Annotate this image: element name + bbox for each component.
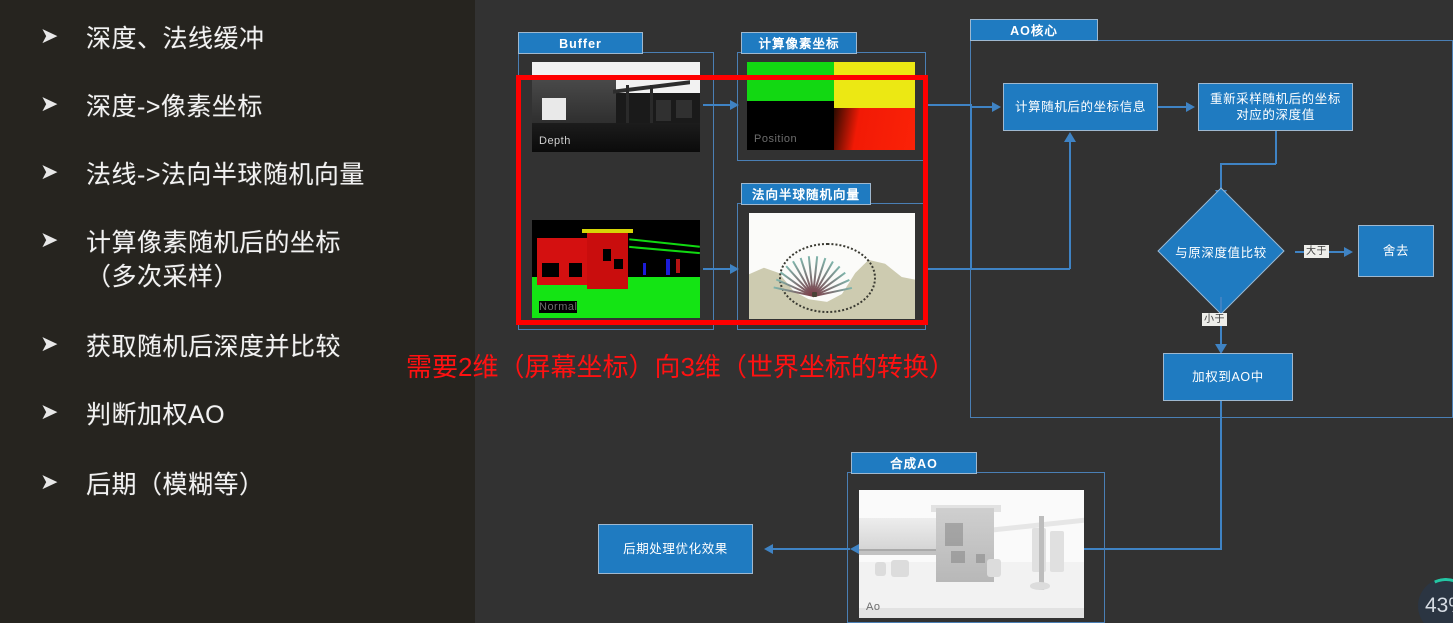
diagram-panel: Buffer Depth xyxy=(475,0,1453,623)
position-image-label: Position xyxy=(754,133,797,145)
arrow-depth-to-position xyxy=(730,100,739,110)
arrow-compare-to-discard xyxy=(1344,247,1353,257)
bullet-arrow-icon: ➤ xyxy=(40,398,86,428)
list-item: ➤ 深度->像素坐标 xyxy=(40,90,263,124)
node-compare-depth-label: 与原深度值比较 xyxy=(1175,242,1267,261)
node-resample-depth-label: 重新采样随机后的坐标 对应的深度值 xyxy=(1204,91,1347,123)
list-item: ➤ 获取随机后深度并比较 xyxy=(40,330,341,364)
bullet-list-panel: ➤ 深度、法线缓冲 ➤ 深度->像素坐标 ➤ 法线->法向半球随机向量 ➤ 计算… xyxy=(0,0,475,623)
bullet-text: 深度->像素坐标 xyxy=(86,90,263,124)
ao-result-image: Ao xyxy=(859,490,1084,618)
group-hemisphere-title: 法向半球随机向量 xyxy=(741,183,871,205)
node-discard[interactable]: 舍去 xyxy=(1358,225,1434,277)
arrow-loop-into-calc xyxy=(1064,132,1076,142)
arrow-normal-to-hemisphere xyxy=(730,264,739,274)
group-pixel-coord-title: 计算像素坐标 xyxy=(741,32,857,54)
list-item: ➤ 深度、法线缓冲 xyxy=(40,22,265,56)
node-discard-label: 舍去 xyxy=(1377,243,1415,259)
list-item: ➤ 计算像素随机后的坐标 （多次采样） xyxy=(40,226,341,294)
edge-label-greater: 大于 xyxy=(1304,245,1329,258)
normal-image-label: Normal xyxy=(539,301,577,313)
edge-normal-to-hemisphere xyxy=(703,268,731,270)
arrow-into-calc-coord xyxy=(992,102,1001,112)
bullet-text: 深度、法线缓冲 xyxy=(86,22,265,56)
slide-canvas: ➤ 深度、法线缓冲 ➤ 深度->像素坐标 ➤ 法线->法向半球随机向量 ➤ 计算… xyxy=(0,0,1453,623)
edge-ao-to-post xyxy=(772,548,850,550)
bullet-arrow-icon: ➤ xyxy=(40,330,86,360)
node-calc-coord[interactable]: 计算随机后的坐标信息 xyxy=(1003,83,1158,131)
edge-core-rail-to-calc xyxy=(970,106,992,108)
bullet-text: 判断加权AO xyxy=(86,398,225,432)
depth-image-label: Depth xyxy=(539,135,571,147)
group-composite-ao-title: 合成AO xyxy=(851,452,977,474)
bullet-text: 计算像素随机后的坐标 （多次采样） xyxy=(86,226,341,294)
node-weight-ao-label: 加权到AO中 xyxy=(1186,369,1270,385)
position-buffer-image: Position xyxy=(747,62,915,150)
edge-loop-down xyxy=(1220,401,1222,549)
bullet-arrow-icon: ➤ xyxy=(40,468,86,498)
edge-calc-to-resample xyxy=(1158,106,1186,108)
node-calc-coord-label: 计算随机后的坐标信息 xyxy=(1009,99,1152,115)
red-annotation-text: 需要2维（屏幕坐标）向3维（世界坐标的转换） xyxy=(406,352,955,382)
edge-depth-to-position xyxy=(703,104,731,106)
edge-loop-up-to-calc xyxy=(1069,142,1071,269)
hemisphere-sampling-image xyxy=(749,213,915,319)
list-item: ➤ 法线->法向半球随机向量 xyxy=(40,158,365,192)
bullet-arrow-icon: ➤ xyxy=(40,90,86,120)
sample-origin-point xyxy=(812,292,817,297)
bullet-text: 获取随机后深度并比较 xyxy=(86,330,341,364)
arrow-ao-to-post xyxy=(764,544,773,554)
edge-resample-down xyxy=(1275,131,1277,164)
node-compare-depth[interactable]: 与原深度值比较 xyxy=(1146,205,1296,298)
node-post-process-label: 后期处理优化效果 xyxy=(617,541,734,557)
depth-buffer-image: Depth xyxy=(532,62,700,152)
bullet-arrow-icon: ➤ xyxy=(40,226,86,256)
edge-resample-left xyxy=(1220,163,1276,165)
bullet-text: 后期（模糊等） xyxy=(86,468,265,502)
list-item: ➤ 判断加权AO xyxy=(40,398,225,432)
ao-image-label: Ao xyxy=(866,601,880,613)
node-resample-depth[interactable]: 重新采样随机后的坐标 对应的深度值 xyxy=(1198,83,1353,131)
edge-hemisphere-to-core xyxy=(926,268,970,270)
bullet-arrow-icon: ➤ xyxy=(40,22,86,52)
list-item: ➤ 后期（模糊等） xyxy=(40,468,265,502)
bullet-arrow-icon: ➤ xyxy=(40,158,86,188)
edge-loop-return xyxy=(970,268,1070,270)
bullet-text: 法线->法向半球随机向量 xyxy=(86,158,365,192)
normal-buffer-image: Normal xyxy=(532,220,700,318)
group-ao-core-title: AO核心 xyxy=(970,19,1098,41)
group-buffer-title: Buffer xyxy=(518,32,643,54)
edge-position-to-core xyxy=(926,104,970,106)
edge-label-less: 小于 xyxy=(1202,313,1227,326)
arrow-calc-to-resample xyxy=(1186,102,1195,112)
node-post-process[interactable]: 后期处理优化效果 xyxy=(598,524,753,574)
edge-core-left-rail xyxy=(970,104,972,269)
node-weight-ao[interactable]: 加权到AO中 xyxy=(1163,353,1293,401)
